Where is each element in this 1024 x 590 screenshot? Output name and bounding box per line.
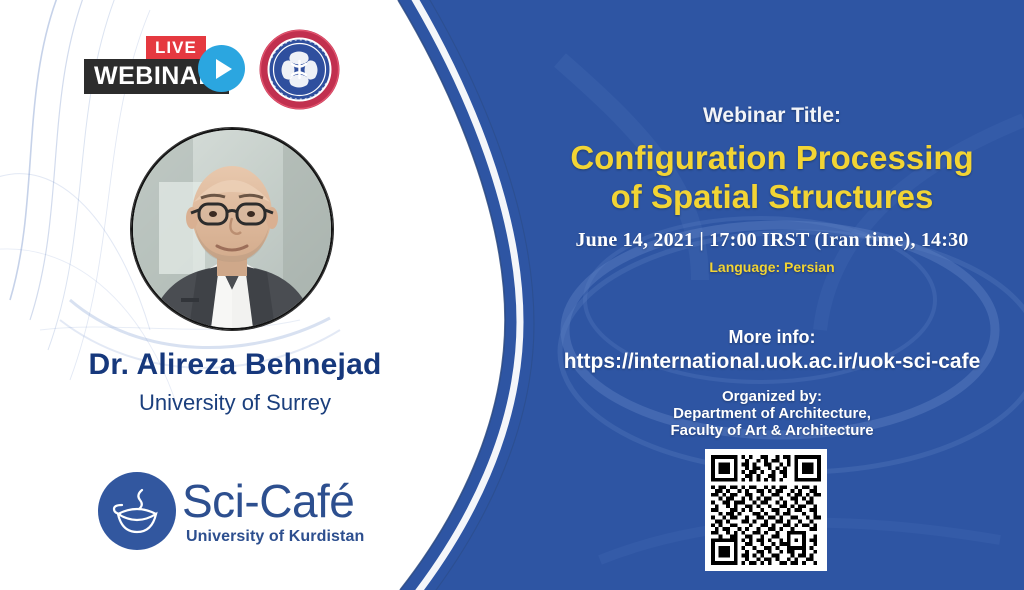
webinar-title-line-2: of Spatial Structures — [520, 177, 1024, 216]
speaker-portrait — [131, 128, 333, 330]
more-info-label: More info: — [520, 327, 1024, 348]
qr-code-image — [711, 455, 821, 565]
organizer-department: Department of Architecture, — [520, 405, 1024, 422]
left-column: LIVE WEBINAR — [0, 0, 470, 590]
speaker-affiliation: University of Surrey — [0, 390, 470, 416]
sci-cafe-subtitle: University of Kurdistan — [186, 528, 364, 546]
play-triangle-icon — [216, 59, 232, 79]
webinar-language: Language: Persian — [520, 259, 1024, 275]
live-webinar-badge: LIVE WEBINAR — [84, 36, 244, 92]
sci-cafe-logo: Sci-Café University of Kurdistan — [98, 472, 398, 558]
university-of-kurdistan-seal-icon — [258, 28, 341, 111]
play-icon — [198, 45, 245, 92]
live-label: LIVE — [146, 36, 206, 60]
right-column: Webinar Title: Configuration Processing … — [520, 0, 1024, 590]
webinar-title-label: Webinar Title: — [520, 104, 1024, 128]
webinar-title: Configuration Processing of Spatial Stru… — [520, 138, 1024, 216]
organized-by-label: Organized by: — [520, 388, 1024, 405]
qr-code[interactable] — [705, 449, 827, 571]
coffee-cup-icon — [98, 472, 176, 550]
speaker-name: Dr. Alireza Behnejad — [0, 348, 470, 382]
more-info-url[interactable]: https://international.uok.ac.ir/uok-sci-… — [520, 350, 1024, 374]
sci-cafe-title: Sci-Café — [182, 476, 354, 526]
webinar-title-line-1: Configuration Processing — [520, 138, 1024, 177]
organizer-faculty: Faculty of Art & Architecture — [520, 422, 1024, 439]
webinar-datetime: June 14, 2021 | 17:00 IRST (Iran time), … — [520, 229, 1024, 252]
webinar-poster: LIVE WEBINAR — [0, 0, 1024, 590]
